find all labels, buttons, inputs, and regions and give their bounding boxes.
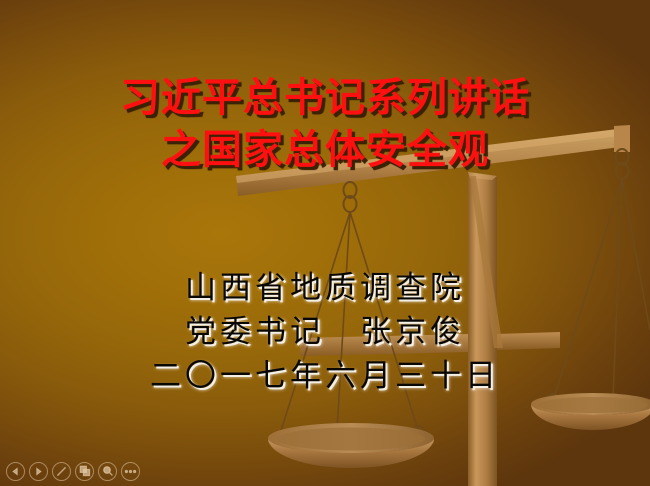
ellipsis-icon bbox=[124, 469, 137, 474]
subtitle-date: 二〇一七年六月三十日 bbox=[0, 354, 650, 398]
pen-button[interactable] bbox=[52, 462, 71, 481]
slide-title: 习近平总书记系列讲话 之国家总体安全观 bbox=[0, 72, 650, 176]
more-options-button[interactable] bbox=[121, 462, 140, 481]
title-line-2: 之国家总体安全观 bbox=[0, 124, 650, 176]
slideshow-toolbar bbox=[0, 456, 650, 486]
previous-slide-button[interactable] bbox=[6, 462, 25, 481]
scale-right-pan bbox=[531, 393, 650, 430]
copy-icon bbox=[79, 465, 91, 477]
subtitle-organization: 山西省地质调查院 bbox=[0, 266, 650, 310]
triangle-left-icon bbox=[11, 467, 20, 476]
slide-subtitle: 山西省地质调查院 党委书记 张京俊 二〇一七年六月三十日 bbox=[0, 266, 650, 398]
next-slide-button[interactable] bbox=[29, 462, 48, 481]
triangle-right-icon bbox=[34, 467, 43, 476]
title-line-1: 习近平总书记系列讲话 bbox=[0, 72, 650, 124]
zoom-button[interactable] bbox=[98, 462, 117, 481]
pen-icon bbox=[55, 465, 68, 478]
magnifier-icon bbox=[102, 465, 114, 477]
subtitle-author: 党委书记 张京俊 bbox=[0, 310, 650, 354]
presentation-slide: 习近平总书记系列讲话 之国家总体安全观 山西省地质调查院 党委书记 张京俊 二〇… bbox=[0, 0, 650, 486]
slide-switch-button[interactable] bbox=[75, 462, 94, 481]
